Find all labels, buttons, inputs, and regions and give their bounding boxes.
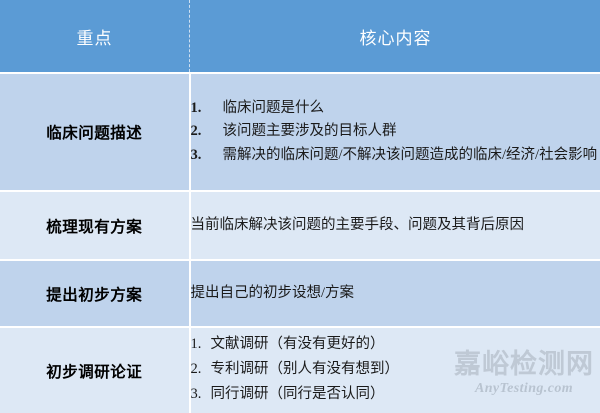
list-item-text: 同行调研（同行是否认同） <box>211 386 385 402</box>
list-item-number: 1. <box>191 97 202 119</box>
list-item-text: 临床问题是什么 <box>223 100 325 116</box>
table-header: 重点 核心内容 <box>0 0 600 73</box>
table-row: 提出初步方案 提出自己的初步设想/方案 <box>0 260 600 327</box>
list-item-number: 3. <box>191 144 202 166</box>
list-item: 2. 该问题主要涉及的目标人群 <box>191 120 600 142</box>
row-value-cell: 提出自己的初步设想/方案 <box>190 260 600 327</box>
column-header-key: 重点 <box>0 0 190 73</box>
row-value-text: 当前临床解决该问题的主要手段、问题及其背后原因 <box>191 214 600 236</box>
row-key-label: 临床问题描述 <box>0 73 190 191</box>
row-value-text: 提出自己的初步设想/方案 <box>191 282 600 304</box>
table-header-row: 重点 核心内容 <box>0 0 600 73</box>
list-item: 2. 专利调研（别人有没有想到） <box>191 358 600 381</box>
list-item-text: 需解决的临床问题/不解决该问题造成的临床/经济/社会影响 <box>223 147 598 163</box>
list-item-text: 文献调研（有没有更好的） <box>211 336 385 352</box>
row-key-label: 初步调研论证 <box>0 327 190 413</box>
list-item: 1. 临床问题是什么 <box>191 97 600 119</box>
table-row: 初步调研论证 1. 文献调研（有没有更好的） 2. 专利调研（别人有没有想到） … <box>0 327 600 413</box>
list-item-text: 专利调研（别人有没有想到） <box>211 361 400 377</box>
row-value-cell: 1. 文献调研（有没有更好的） 2. 专利调研（别人有没有想到） 3. 同行调研… <box>190 327 600 413</box>
column-header-value: 核心内容 <box>190 0 600 73</box>
list-item-number: 3. <box>191 383 202 406</box>
list-item-number: 2. <box>191 120 202 142</box>
table-row: 梳理现有方案 当前临床解决该问题的主要手段、问题及其背后原因 <box>0 191 600 260</box>
row-value-cell: 当前临床解决该问题的主要手段、问题及其背后原因 <box>190 191 600 260</box>
table-body: 临床问题描述 1. 临床问题是什么 2. 该问题主要涉及的目标人群 3. <box>0 73 600 413</box>
list-item: 1. 文献调研（有没有更好的） <box>191 333 600 356</box>
row-key-label: 梳理现有方案 <box>0 191 190 260</box>
ordered-list: 1. 临床问题是什么 2. 该问题主要涉及的目标人群 3. 需解决的临床问题/不… <box>191 97 600 165</box>
key-content-table: 重点 核心内容 临床问题描述 1. 临床问题是什么 2. 该问题主要涉及的 <box>0 0 600 413</box>
ordered-list: 1. 文献调研（有没有更好的） 2. 专利调研（别人有没有想到） 3. 同行调研… <box>191 333 600 406</box>
document-table-container: 重点 核心内容 临床问题描述 1. 临床问题是什么 2. 该问题主要涉及的 <box>0 0 600 413</box>
row-value-cell: 1. 临床问题是什么 2. 该问题主要涉及的目标人群 3. 需解决的临床问题/不… <box>190 73 600 191</box>
row-key-label: 提出初步方案 <box>0 260 190 327</box>
table-row: 临床问题描述 1. 临床问题是什么 2. 该问题主要涉及的目标人群 3. <box>0 73 600 191</box>
list-item: 3. 同行调研（同行是否认同） <box>191 383 600 406</box>
list-item-text: 该问题主要涉及的目标人群 <box>223 123 397 139</box>
list-item: 3. 需解决的临床问题/不解决该问题造成的临床/经济/社会影响 <box>191 144 600 166</box>
list-item-number: 1. <box>191 333 202 356</box>
list-item-number: 2. <box>191 358 202 381</box>
